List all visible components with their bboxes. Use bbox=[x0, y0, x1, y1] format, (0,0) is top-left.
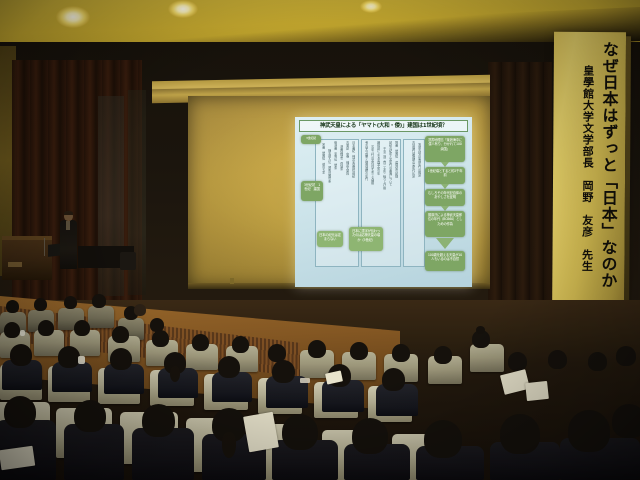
slide-flow-arrow-large-icon bbox=[436, 238, 454, 249]
audience-head bbox=[500, 414, 540, 454]
audience-head bbox=[308, 340, 326, 358]
slide-callout-right: むしろその年代記自体のあやしさを証明 bbox=[425, 189, 465, 206]
valance-fold bbox=[152, 83, 490, 95]
stage-curtain-right bbox=[488, 62, 552, 302]
slide-callout-right: 100歳を超える天皇が10人もいるのは不自然 bbox=[425, 251, 465, 271]
slide-text-column: 古墳時代開始期の実年代比定 bbox=[411, 141, 415, 263]
microphone-stand-icon bbox=[44, 238, 45, 256]
slide-callout-left: 日本に漢字が伝わったのは応神天皇の頃か（5世紀） bbox=[349, 227, 383, 251]
audience-head bbox=[64, 296, 77, 309]
podium-plate bbox=[8, 262, 22, 267]
audience-head bbox=[6, 300, 19, 313]
ponytail bbox=[222, 432, 236, 458]
handout-paper bbox=[525, 381, 549, 401]
audience-head bbox=[58, 346, 80, 368]
speaker-figure bbox=[60, 211, 77, 269]
slide-text-column: 箸墓古墳の築造年代の推定 bbox=[417, 143, 421, 259]
ceiling-spotlight-icon bbox=[360, 0, 382, 13]
audience-head bbox=[434, 346, 452, 364]
audience-head bbox=[38, 320, 54, 336]
face-mask bbox=[20, 330, 25, 336]
ponytail bbox=[170, 366, 180, 382]
audience-head bbox=[112, 326, 129, 343]
speaker-shirt bbox=[66, 221, 70, 230]
audience-head bbox=[272, 360, 295, 383]
handout-paper bbox=[243, 412, 279, 453]
slide-callout-right: 藤原氏による神武天皇即位の年代（BC660）としための作為 bbox=[425, 211, 465, 237]
audience-head bbox=[10, 344, 32, 366]
audience-head bbox=[110, 348, 132, 370]
audience-head bbox=[568, 410, 610, 452]
audience-head bbox=[74, 400, 106, 432]
slide-callout-left: 3世紀初 1世紀 建国 bbox=[301, 181, 323, 201]
audience-torso bbox=[64, 424, 124, 480]
audience-head bbox=[134, 304, 146, 316]
shirt-collar bbox=[300, 378, 310, 383]
audience-head bbox=[192, 334, 209, 351]
seat bbox=[470, 344, 504, 372]
audience-head bbox=[34, 298, 47, 311]
ceiling-spotlight-icon bbox=[56, 6, 90, 28]
banner-speaker-line: 皇學館大学文学部長 岡野 友彦 先生 bbox=[579, 41, 595, 323]
audience-head bbox=[508, 352, 527, 371]
audience-head bbox=[352, 418, 388, 454]
screen-tab bbox=[230, 278, 234, 284]
audience-head bbox=[392, 344, 410, 362]
audience-head bbox=[92, 294, 106, 308]
slide-body: 日本書紀 神武天皇即位前紀 古事記 中巻 神武天皇段 漢書地理志 燕地条 後漢書… bbox=[299, 135, 468, 283]
audience-head bbox=[152, 330, 169, 347]
audience-head bbox=[350, 342, 368, 360]
audience-head bbox=[282, 414, 318, 450]
audience-head bbox=[4, 396, 36, 428]
face-mask bbox=[78, 356, 85, 364]
slide-corner-tag: 3世紀初 bbox=[301, 135, 321, 144]
hair-bun bbox=[476, 326, 485, 334]
speaker-hair bbox=[64, 211, 73, 215]
event-title-banner: なぜ日本はずっと「日本」なのか 皇學館大学文学部長 岡野 友彦 先生 bbox=[552, 32, 626, 332]
audience-head bbox=[548, 350, 567, 369]
slide-text-column: 隋書 倭国伝 遣隋使の記録 bbox=[394, 141, 398, 265]
audience-head bbox=[4, 322, 20, 338]
projected-slide: 神武天皇による「ヤマト(大和・倭)」建国は1世紀頃？ 日本書紀 神武天皇即位前紀… bbox=[295, 117, 472, 287]
ceiling-spotlight-icon bbox=[168, 0, 198, 18]
audience-head bbox=[588, 352, 607, 371]
audience-head bbox=[382, 368, 405, 391]
audience-head bbox=[74, 320, 90, 336]
slide-callout-right: 漢書地理志「楽浪海中に倭人有り、分かれて100余国」 bbox=[425, 136, 465, 162]
banner-main-title: なぜ日本はずっと「日本」なのか bbox=[597, 41, 619, 323]
slide-text-column: 記紀の紀年と実年代の差異について bbox=[388, 141, 392, 261]
slide-callout-right: 1世紀頃とすると約2千年前 bbox=[425, 167, 465, 184]
audience-head bbox=[616, 346, 636, 366]
slide-callout-left: 日本の紀元は定まらない bbox=[317, 231, 343, 247]
audience-head bbox=[612, 404, 640, 438]
seat bbox=[88, 306, 114, 328]
slide-title: 神武天皇による「ヤマト(大和・倭)」建国は1世紀頃？ bbox=[299, 120, 468, 132]
stage-chair bbox=[120, 252, 136, 270]
audience-head bbox=[142, 404, 175, 437]
audience-head bbox=[218, 356, 240, 378]
banner-text-area: なぜ日本はずっと「日本」なのか 皇學館大学文学部長 岡野 友彦 先生 bbox=[555, 35, 623, 329]
screenshot-root: 神武天皇による「ヤマト(大和・倭)」建国は1世紀頃？ 日本書紀 神武天皇即位前紀… bbox=[0, 0, 640, 480]
audience-head bbox=[424, 420, 462, 458]
audience-head bbox=[232, 336, 249, 353]
